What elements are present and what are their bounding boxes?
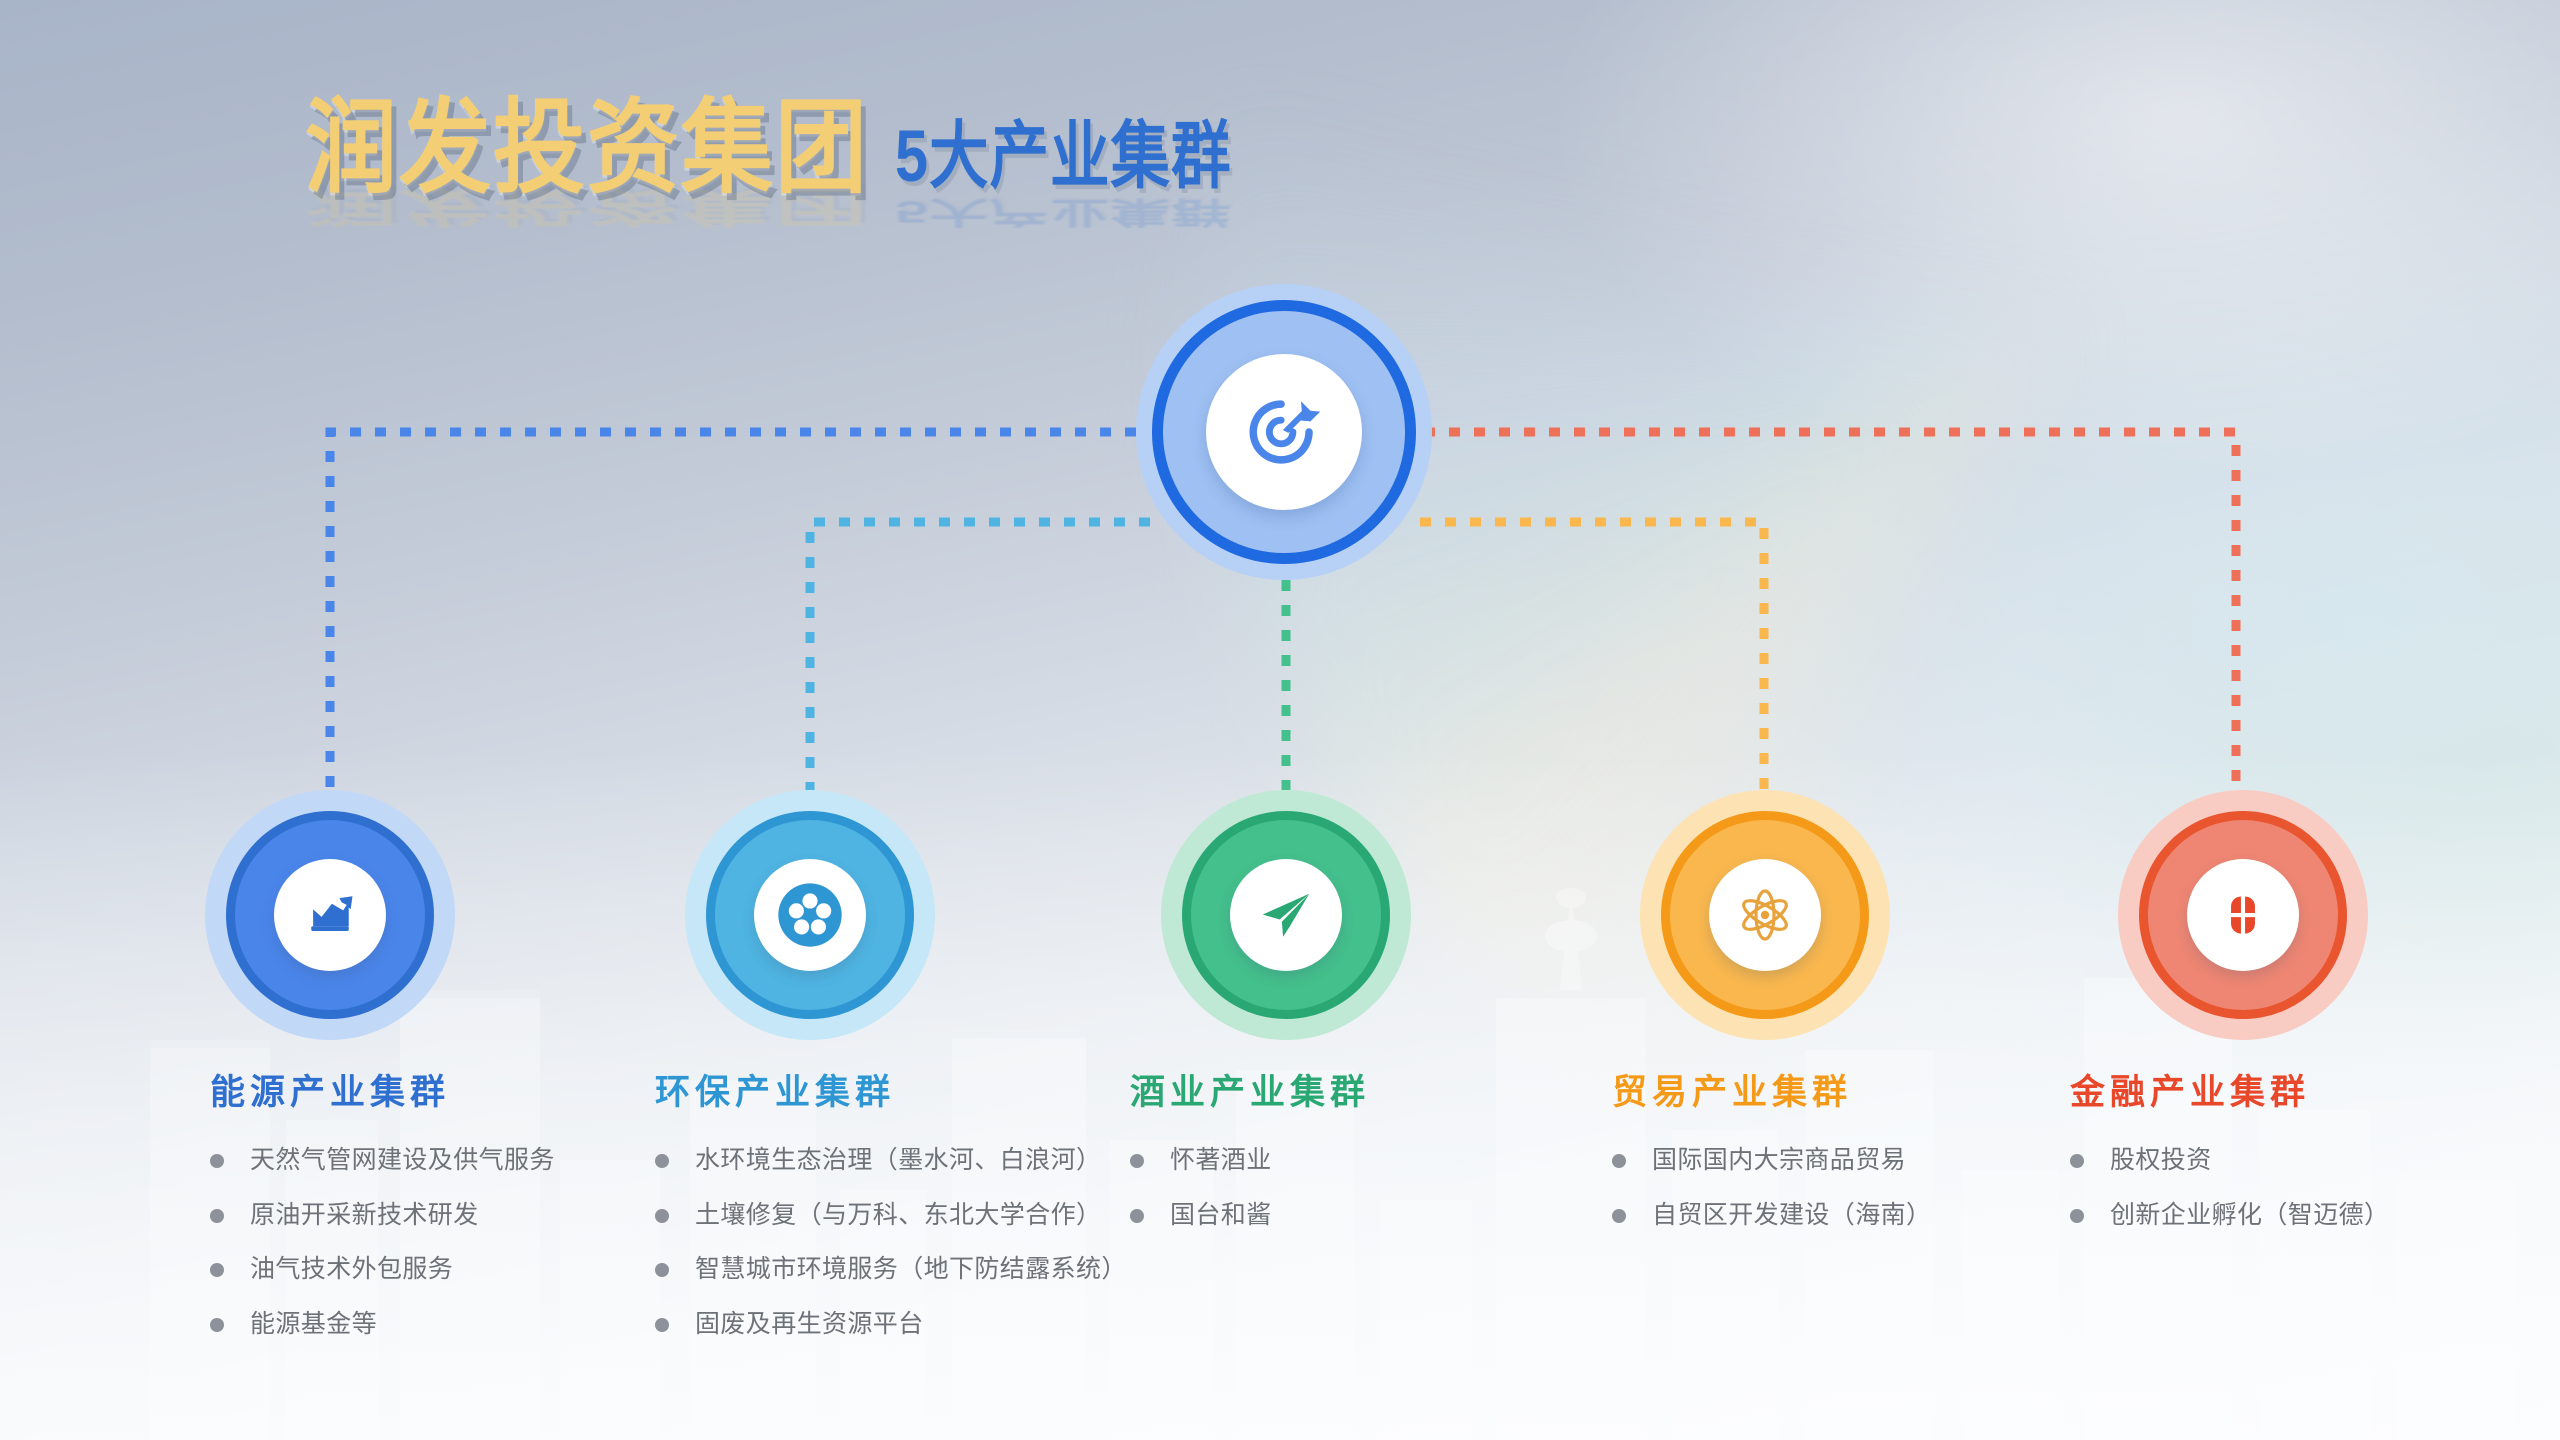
- central-hub-node[interactable]: [1136, 284, 1432, 580]
- infographic-canvas: 润发投资集团 5大产业集群 润发投资集团 5大产业集群: [0, 0, 2560, 1440]
- bullet-dot-icon: [655, 1209, 669, 1223]
- cluster-title-liquor: 酒业产业集群: [1130, 1075, 1370, 1110]
- bullet-dot-icon: [655, 1318, 669, 1332]
- cluster-core-finance: [2187, 859, 2299, 971]
- list-item: 油气技术外包服务: [210, 1253, 555, 1286]
- cluster-bullets-energy: 天然气管网建设及供气服务 原油开采新技术研发 油气技术外包服务 能源基金等: [210, 1144, 555, 1340]
- bullet-text: 土壤修复（与万科、东北大学合作）: [695, 1199, 1101, 1232]
- cluster-node-trade[interactable]: [1640, 790, 1890, 1040]
- cluster-node-liquor[interactable]: [1161, 790, 1411, 1040]
- cluster-node-finance[interactable]: [2118, 790, 2368, 1040]
- cluster-column-trade: 贸易产业集群 国际国内大宗商品贸易 自贸区开发建设（海南）: [1612, 1075, 1931, 1253]
- cluster-title-trade: 贸易产业集群: [1612, 1075, 1931, 1110]
- cluster-core-energy: [274, 859, 386, 971]
- list-item: 股权投资: [2070, 1144, 2389, 1177]
- list-item: 天然气管网建设及供气服务: [210, 1144, 555, 1177]
- bullet-text: 油气技术外包服务: [250, 1253, 453, 1286]
- bullet-text: 水环境生态治理（墨水河、白浪河）: [695, 1144, 1101, 1177]
- bullet-text: 能源基金等: [250, 1308, 377, 1341]
- paper-plane-icon: [1255, 884, 1317, 946]
- cluster-bullets-finance: 股权投资 创新企业孵化（智迈德）: [2070, 1144, 2389, 1231]
- list-item: 国际国内大宗商品贸易: [1612, 1144, 1931, 1177]
- cluster-title-energy: 能源产业集群: [210, 1075, 555, 1110]
- cluster-column-energy: 能源产业集群 天然气管网建设及供气服务 原油开采新技术研发 油气技术外包服务 能…: [210, 1075, 555, 1362]
- title-reflection-sub: 5大产业集群: [895, 196, 1231, 227]
- cluster-bullets-liquor: 怀著酒业 国台和酱: [1130, 1144, 1370, 1231]
- bullet-dot-icon: [1130, 1209, 1144, 1223]
- bullet-text: 国际国内大宗商品贸易: [1652, 1144, 1906, 1177]
- list-item: 固废及再生资源平台: [655, 1308, 1127, 1341]
- atom-icon: [1733, 883, 1797, 947]
- bullet-text: 原油开采新技术研发: [250, 1199, 479, 1232]
- list-item: 创新企业孵化（智迈德）: [2070, 1199, 2389, 1232]
- list-item: 原油开采新技术研发: [210, 1199, 555, 1232]
- cluster-core-environment: [754, 859, 866, 971]
- bullet-text: 创新企业孵化（智迈德）: [2110, 1199, 2389, 1232]
- cluster-ring-finance: [2139, 811, 2347, 1019]
- list-item: 土壤修复（与万科、东北大学合作）: [655, 1199, 1127, 1232]
- cluster-column-finance: 金融产业集群 股权投资 创新企业孵化（智迈德）: [2070, 1075, 2389, 1253]
- four-petal-grid-icon: [2210, 882, 2276, 948]
- bullet-dot-icon: [655, 1154, 669, 1168]
- bullet-dot-icon: [1612, 1154, 1626, 1168]
- bullet-text: 天然气管网建设及供气服务: [250, 1144, 555, 1177]
- bullet-dot-icon: [210, 1263, 224, 1277]
- bullet-dot-icon: [1612, 1209, 1626, 1223]
- cluster-column-liquor: 酒业产业集群 怀著酒业 国台和酱: [1130, 1075, 1370, 1253]
- trending-up-chart-icon: [300, 885, 360, 945]
- target-arrow-icon: [1238, 386, 1330, 478]
- cluster-node-energy[interactable]: [205, 790, 455, 1040]
- bullet-text: 固废及再生资源平台: [695, 1308, 924, 1341]
- cluster-core-trade: [1709, 859, 1821, 971]
- bullet-dot-icon: [2070, 1154, 2084, 1168]
- hub-core: [1206, 354, 1362, 510]
- bullet-dot-icon: [1130, 1154, 1144, 1168]
- bullet-dot-icon: [210, 1154, 224, 1168]
- list-item: 水环境生态治理（墨水河、白浪河）: [655, 1144, 1127, 1177]
- cluster-bullets-environment: 水环境生态治理（墨水河、白浪河） 土壤修复（与万科、东北大学合作） 智慧城市环境…: [655, 1144, 1127, 1340]
- title-sub-text: 5大产业集群: [895, 121, 1231, 194]
- bullet-dot-icon: [2070, 1209, 2084, 1223]
- list-item: 怀著酒业: [1130, 1144, 1370, 1177]
- list-item: 国台和酱: [1130, 1199, 1370, 1232]
- cluster-title-finance: 金融产业集群: [2070, 1075, 2389, 1110]
- bullet-text: 国台和酱: [1170, 1199, 1272, 1232]
- cluster-bullets-trade: 国际国内大宗商品贸易 自贸区开发建设（海南）: [1612, 1144, 1931, 1231]
- list-item: 能源基金等: [210, 1308, 555, 1341]
- connector-finance: [1424, 432, 2236, 790]
- cluster-column-environment: 环保产业集群 水环境生态治理（墨水河、白浪河） 土壤修复（与万科、东北大学合作）…: [655, 1075, 1127, 1362]
- cluster-core-liquor: [1230, 859, 1342, 971]
- hub-ring: [1152, 300, 1416, 564]
- bullet-text: 智慧城市环境服务（地下防结露系统）: [695, 1253, 1127, 1286]
- list-item: 智慧城市环境服务（地下防结露系统）: [655, 1253, 1127, 1286]
- cluster-ring-liquor: [1182, 811, 1390, 1019]
- bullet-text: 股权投资: [2110, 1144, 2212, 1177]
- cluster-node-environment[interactable]: [685, 790, 935, 1040]
- bullet-text: 怀著酒业: [1170, 1144, 1272, 1177]
- cluster-ring-environment: [706, 811, 914, 1019]
- title-main-text: 润发投资集团: [305, 97, 869, 200]
- cluster-title-environment: 环保产业集群: [655, 1075, 1127, 1110]
- bullet-dot-icon: [655, 1263, 669, 1277]
- cluster-ring-trade: [1661, 811, 1869, 1019]
- page-title: 润发投资集团 5大产业集群: [305, 108, 1246, 200]
- bullet-text: 自贸区开发建设（海南）: [1652, 1199, 1931, 1232]
- five-hole-filter-icon: [771, 876, 849, 954]
- bullet-dot-icon: [210, 1318, 224, 1332]
- cluster-ring-energy: [226, 811, 434, 1019]
- connector-energy: [330, 432, 1136, 790]
- bullet-dot-icon: [210, 1209, 224, 1223]
- list-item: 自贸区开发建设（海南）: [1612, 1199, 1931, 1232]
